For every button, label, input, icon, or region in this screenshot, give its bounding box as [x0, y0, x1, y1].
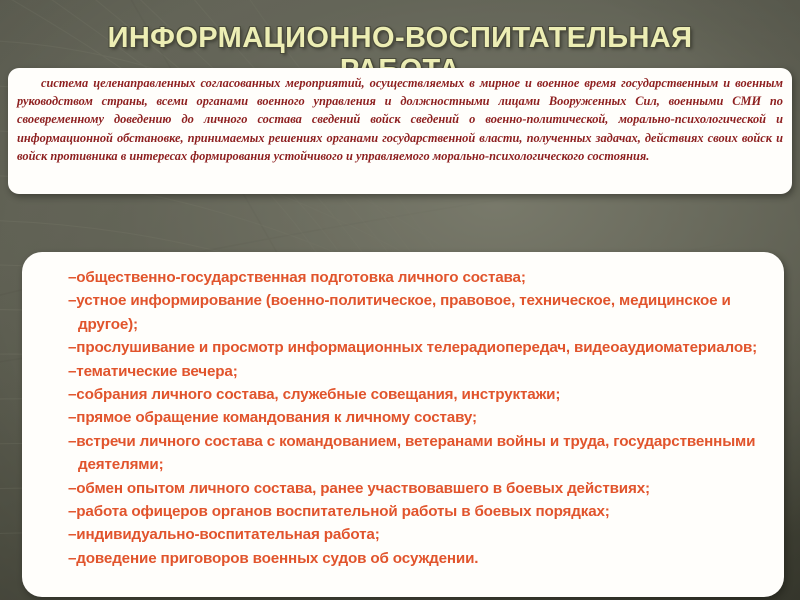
list-item: –прослушивание и просмотр информационных… [68, 336, 768, 359]
list-item: –общественно-государственная подготовка … [68, 266, 768, 289]
slide-canvas: ИНФОРМАЦИОННО-ВОСПИТАТЕЛЬНАЯ РАБОТА сист… [0, 0, 800, 600]
list-item: –встречи личного состава с командованием… [68, 430, 768, 477]
list-item: –устное информирование (военно-политичес… [68, 289, 768, 336]
list-item: –доведение приговоров военных судов об о… [68, 547, 768, 570]
list-item: –индивидуально-воспитательная работа; [68, 523, 768, 546]
list-item: –собрания личного состава, служебные сов… [68, 383, 768, 406]
definition-panel: система целенаправленных согласованных м… [8, 68, 792, 194]
list-item: –прямое обращение командования к личному… [68, 406, 768, 429]
list-item: –работа офицеров органов воспитательной … [68, 500, 768, 523]
measures-panel: –общественно-государственная подготовка … [22, 252, 784, 597]
list-item: –тематические вечера; [68, 360, 768, 383]
list-item: –обмен опытом личного состава, ранее уча… [68, 477, 768, 500]
measures-list: –общественно-государственная подготовка … [68, 266, 768, 570]
definition-text: система целенаправленных согласованных м… [17, 74, 783, 165]
